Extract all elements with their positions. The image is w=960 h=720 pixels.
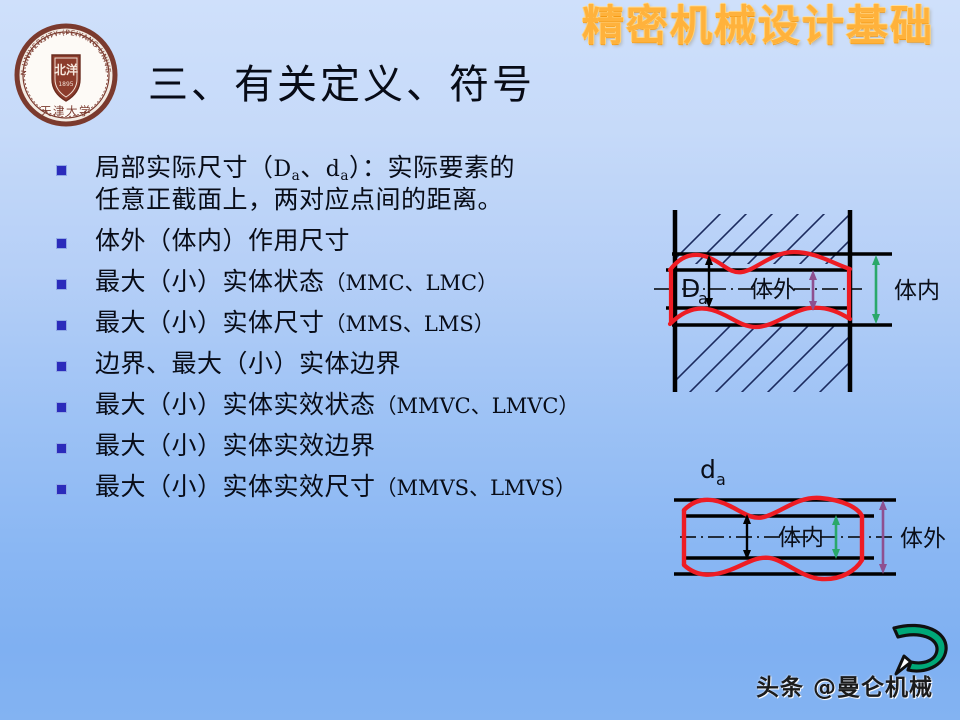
external-acting-size-arrow xyxy=(809,270,817,311)
svg-text:1895: 1895 xyxy=(58,81,73,88)
bullet-cn: 最大（小）实体实效状态 xyxy=(95,390,376,419)
bullet-text: 边界、最大（小）实体边界 xyxy=(95,348,401,380)
list-item-mmc-lmc: 最大（小）实体状态（MMC、LMC） xyxy=(56,266,676,298)
bullet-text: 最大（小）实体实效状态（MMVC、LMVC） xyxy=(95,389,579,421)
hole-cross-section-diagram: D a 体外 体内 xyxy=(652,192,958,398)
list-item-boundary: 边界、最大（小）实体边界 xyxy=(56,348,676,380)
square-bullet-icon xyxy=(56,361,67,372)
definition-bullet-list: 局部实际尺寸（Da、da）：实际要素的任意正截面上，两对应点间的距离。 体外（体… xyxy=(56,152,676,512)
square-bullet-icon xyxy=(56,320,67,331)
bullet-abbr: （MMC、LMC） xyxy=(325,271,499,295)
bullet-text: 最大（小）实体状态（MMC、LMC） xyxy=(95,266,498,298)
shaft-size-symbol: d xyxy=(700,455,716,484)
bullet-text: 最大（小）实体实效尺寸（MMVS、LMVS） xyxy=(95,471,576,503)
square-bullet-icon xyxy=(56,238,67,249)
course-title: 精密机械设计基础 xyxy=(582,2,934,50)
list-item-mmvs-lmvs: 最大（小）实体实效尺寸（MMVS、LMVS） xyxy=(56,471,676,503)
tianjin-university-seal-logo: TIANJIN UNIVERSITY (PEIYANG UNIVERSITY) … xyxy=(14,23,118,127)
bullet-text: 最大（小）实体实效边界 xyxy=(95,430,376,462)
page-title: 三、有关定义、符号 xyxy=(148,52,535,110)
square-bullet-icon xyxy=(56,279,67,290)
actual-surface-lower xyxy=(684,558,862,579)
bullet-abbr: （MMVS、LMVS） xyxy=(376,476,577,500)
svg-text:北洋: 北洋 xyxy=(54,62,78,77)
watermark-text: 头条 @曼仑机械 xyxy=(756,668,933,702)
bullet-cn: 最大（小）实体状态 xyxy=(95,267,325,296)
label-internal-acting-size: 体内 xyxy=(778,525,824,551)
square-bullet-icon xyxy=(56,484,67,495)
internal-acting-size-arrow xyxy=(872,255,880,324)
bullet-cn: 最大（小）实体实效尺寸 xyxy=(95,472,376,501)
label-internal-acting-size: 体内 xyxy=(894,278,940,304)
slide-canvas: TIANJIN UNIVERSITY (PEIYANG UNIVERSITY) … xyxy=(0,0,960,720)
bullet-text: 局部实际尺寸（Da、da）：实际要素的任意正截面上，两对应点间的距离。 xyxy=(95,152,515,216)
square-bullet-icon xyxy=(56,402,67,413)
list-item-mmv-boundary: 最大（小）实体实效边界 xyxy=(56,430,676,462)
square-bullet-icon xyxy=(56,443,67,454)
list-item-mms-lms: 最大（小）实体尺寸（MMS、LMS） xyxy=(56,307,676,339)
slide-header: TIANJIN UNIVERSITY (PEIYANG UNIVERSITY) … xyxy=(0,0,960,130)
bullet-abbr: （MMVC、LMVC） xyxy=(376,394,580,418)
list-item-mmvc-lmvc: 最大（小）实体实效状态（MMVC、LMVC） xyxy=(56,389,676,421)
list-item-local-actual-size: 局部实际尺寸（Da、da）：实际要素的任意正截面上，两对应点间的距离。 xyxy=(56,152,676,216)
bullet-abbr: （MMS、LMS） xyxy=(325,312,495,336)
hole-size-subscript: a xyxy=(698,289,708,308)
bullet-text: 体外（体内）作用尺寸 xyxy=(95,225,350,257)
label-external-acting-size: 体外 xyxy=(750,277,796,303)
bullet-text: 最大（小）实体尺寸（MMS、LMS） xyxy=(95,307,495,339)
list-item-acting-size: 体外（体内）作用尺寸 xyxy=(56,225,676,257)
square-bullet-icon xyxy=(56,165,67,176)
svg-text:天津大学: 天津大学 xyxy=(40,104,92,118)
bullet-cn: 最大（小）实体尺寸 xyxy=(95,308,325,337)
label-external-acting-size: 体外 xyxy=(900,526,946,552)
shaft-cross-section-diagram: d a 体内 体 xyxy=(652,438,958,610)
shaft-size-subscript: a xyxy=(716,470,726,489)
